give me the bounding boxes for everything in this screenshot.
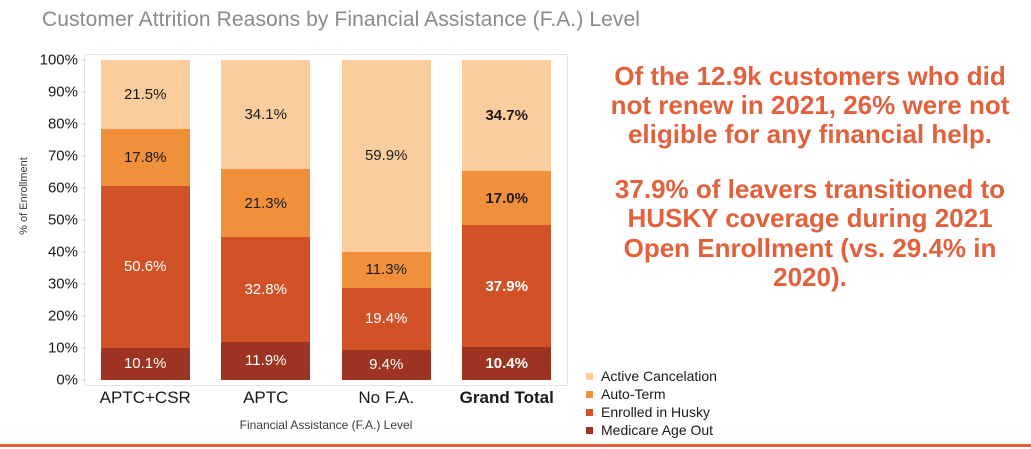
bar-segment[interactable]: 37.9% xyxy=(462,225,551,346)
y-axis-tick-labels: 0%10%20%30%40%50%60%70%80%90%100% xyxy=(26,60,82,380)
bar-segment[interactable]: 19.4% xyxy=(342,288,431,350)
bar-segment-label: 11.3% xyxy=(366,262,407,277)
stacked-bar[interactable]: 34.7%17.0%37.9%10.4% xyxy=(462,60,551,380)
stacked-bar[interactable]: 59.9%11.3%19.4%9.4% xyxy=(342,60,431,380)
callout-paragraph: 37.9% of leavers transitioned to HUSKY c… xyxy=(592,175,1028,291)
y-axis-tick: 40% xyxy=(48,244,78,261)
y-axis-tick: 60% xyxy=(48,180,78,197)
y-axis-tick: 50% xyxy=(48,212,78,229)
y-axis-tick: 90% xyxy=(48,84,78,101)
legend-swatch-icon xyxy=(586,391,593,398)
legend-item-label: Medicare Age Out xyxy=(601,422,713,438)
bar-segment-label: 17.8% xyxy=(124,150,167,165)
legend-item-label: Active Cancelation xyxy=(601,368,717,384)
bar-segment[interactable]: 21.3% xyxy=(221,169,310,237)
legend-item-label: Auto-Term xyxy=(601,386,666,402)
bar-segment[interactable]: 34.7% xyxy=(462,60,551,171)
bar-segment[interactable]: 11.3% xyxy=(342,252,431,288)
bar-segment[interactable]: 32.8% xyxy=(221,237,310,342)
bar-segment[interactable]: 50.6% xyxy=(101,186,190,348)
bar-segment[interactable]: 17.0% xyxy=(462,171,551,225)
bar-segment[interactable]: 59.9% xyxy=(342,60,431,252)
callout-paragraph: Of the 12.9k customers who did not renew… xyxy=(592,62,1028,149)
bar-segment-label: 34.1% xyxy=(244,107,287,122)
bar-segment-label: 11.9% xyxy=(245,353,286,368)
y-axis-tick: 0% xyxy=(56,372,78,389)
bar-segment-label: 21.5% xyxy=(124,87,167,102)
legend-item[interactable]: Enrolled in Husky xyxy=(586,403,836,421)
y-axis-tick: 10% xyxy=(48,340,78,357)
bar-segment[interactable]: 21.5% xyxy=(101,60,190,129)
y-axis-tick: 20% xyxy=(48,308,78,325)
chart-legend: Active CancelationAuto-TermEnrolled in H… xyxy=(586,367,836,439)
stacked-bar[interactable]: 34.1%21.3%32.8%11.9% xyxy=(221,60,310,380)
x-axis-tick-grand-total: Grand Total xyxy=(447,388,568,408)
bar-segment-label: 34.7% xyxy=(485,108,528,123)
y-axis-tick: 30% xyxy=(48,276,78,293)
x-axis-tick-labels: APTC+CSRAPTCNo F.A.Grand Total xyxy=(85,388,567,414)
bar-segment-label: 21.3% xyxy=(244,196,287,211)
bar-segment[interactable]: 9.4% xyxy=(342,350,431,380)
legend-swatch-icon xyxy=(586,409,593,416)
legend-item-label: Enrolled in Husky xyxy=(601,404,710,420)
bar-segment-label: 10.1% xyxy=(124,356,167,371)
y-axis-tick: 70% xyxy=(48,148,78,165)
legend-swatch-icon xyxy=(586,427,593,434)
legend-item[interactable]: Active Cancelation xyxy=(586,367,836,385)
bar-segment[interactable]: 17.8% xyxy=(101,129,190,186)
y-axis-tick: 100% xyxy=(40,52,78,69)
legend-item[interactable]: Auto-Term xyxy=(586,385,836,403)
y-axis-tick: 80% xyxy=(48,116,78,133)
bar-segment-label: 37.9% xyxy=(485,279,528,294)
x-axis-tick-aptc-csr: APTC+CSR xyxy=(85,388,206,408)
page-title: Customer Attrition Reasons by Financial … xyxy=(42,8,640,32)
bar-segment[interactable]: 34.1% xyxy=(221,60,310,169)
x-axis-tick-no-f-a: No F.A. xyxy=(326,388,447,408)
bar-segment-label: 10.4% xyxy=(485,356,528,371)
bar-segment[interactable]: 11.9% xyxy=(221,342,310,380)
bar-group[interactable]: 59.9%11.3%19.4%9.4% xyxy=(342,60,431,380)
footer-divider xyxy=(0,444,1031,447)
bar-group[interactable]: 21.5%17.8%50.6%10.1% xyxy=(101,60,190,380)
legend-item[interactable]: Medicare Age Out xyxy=(586,421,836,439)
callout-text-block: Of the 12.9k customers who did not renew… xyxy=(592,62,1028,292)
bar-segment-label: 19.4% xyxy=(365,311,408,326)
bar-group[interactable]: 34.1%21.3%32.8%11.9% xyxy=(221,60,310,380)
plot-area: 21.5%17.8%50.6%10.1%34.1%21.3%32.8%11.9%… xyxy=(85,60,567,380)
legend-swatch-icon xyxy=(586,373,593,380)
bar-segment[interactable]: 10.1% xyxy=(101,348,190,380)
bar-segment[interactable]: 10.4% xyxy=(462,347,551,380)
bar-segment-label: 50.6% xyxy=(124,259,167,274)
x-axis-tick-aptc: APTC xyxy=(206,388,327,408)
stacked-bar[interactable]: 21.5%17.8%50.6%10.1% xyxy=(101,60,190,380)
chart-container: % of Enrollment 0%10%20%30%40%50%60%70%8… xyxy=(0,40,590,440)
bar-segment-label: 9.4% xyxy=(369,357,403,372)
x-axis-title: Financial Assistance (F.A.) Level xyxy=(85,418,567,432)
bar-segment-label: 59.9% xyxy=(365,148,408,163)
bar-segment-label: 32.8% xyxy=(244,282,287,297)
bar-group[interactable]: 34.7%17.0%37.9%10.4% xyxy=(462,60,551,380)
bar-segment-label: 17.0% xyxy=(485,191,528,206)
